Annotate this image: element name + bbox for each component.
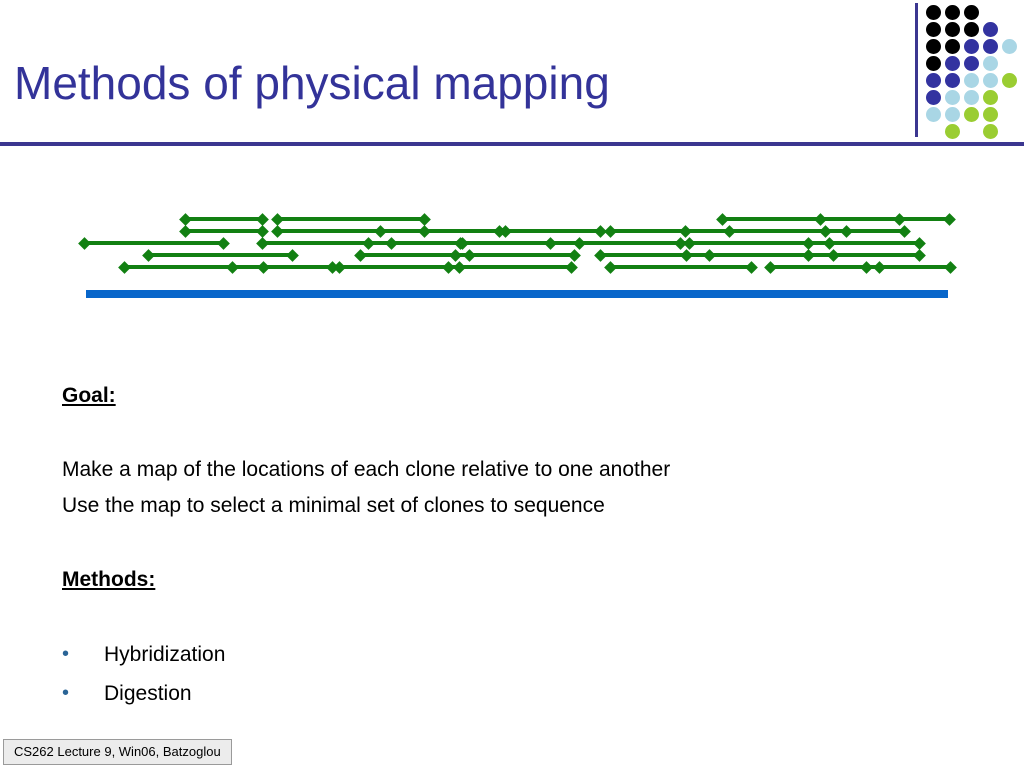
goal-line-2: Use the map to select a minimal set of c… [62,491,605,521]
clone-endpoint-icon [604,225,617,238]
logo-dot [983,124,998,139]
clone-segment [808,241,920,245]
dot-matrix-logo [915,3,1020,143]
logo-vertical-bar [915,3,918,137]
list-item[interactable]: •Hybridization [62,635,562,674]
logo-dot [926,107,941,122]
goal-line-1: Make a map of the locations of each clon… [62,455,670,485]
clone-segment [550,241,690,245]
clone-endpoint-icon [674,237,687,250]
clone-endpoint-icon [680,249,693,262]
clone-segment [610,265,752,269]
logo-dot [1002,73,1017,88]
clone-segment [825,229,905,233]
clone-segment [232,265,340,269]
clone-endpoint-icon [764,261,777,274]
clone-endpoint-icon [913,237,926,250]
logo-dot [945,124,960,139]
bullet-icon: • [62,674,76,713]
clone-endpoint-icon [594,249,607,262]
clone-endpoint-icon [354,249,367,262]
clone-endpoint-icon [226,261,239,274]
clone-endpoint-icon [374,225,387,238]
logo-dot [945,90,960,105]
clone-endpoint-icon [78,237,91,250]
list-item[interactable]: •Digestion [62,674,562,713]
clone-endpoint-icon [142,249,155,262]
clone-segment [808,253,920,257]
title-divider [0,142,1024,146]
logo-dot-grid [926,5,1020,141]
clone-endpoint-icon [544,237,557,250]
logo-dot [926,39,941,54]
clone-endpoint-icon [271,225,284,238]
logo-dot [964,39,979,54]
logo-dot [964,107,979,122]
clone-endpoint-icon [716,213,729,226]
clone-endpoint-icon [802,237,815,250]
clone-endpoint-icon [179,225,192,238]
clone-endpoint-icon [814,213,827,226]
clone-endpoint-icon [943,213,956,226]
clone-endpoint-icon [860,261,873,274]
clone-endpoint-icon [898,225,911,238]
clone-endpoint-icon [819,225,832,238]
clone-endpoint-icon [679,225,692,238]
clone-segment [455,253,575,257]
logo-dot [926,90,941,105]
clone-endpoint-icon [913,249,926,262]
clone-segment [84,241,224,245]
clone-endpoint-icon [604,261,617,274]
list-item-label: Hybridization [104,635,225,674]
logo-dot [964,22,979,37]
logo-dot [926,5,941,20]
clone-endpoint-icon [179,213,192,226]
logo-dot [945,39,960,54]
clone-endpoint-icon [118,261,131,274]
logo-dot [926,56,941,71]
logo-dot [945,73,960,88]
clone-segment [866,265,951,269]
clone-endpoint-icon [256,213,269,226]
clone-segment [820,217,950,221]
logo-dot [945,22,960,37]
list-item-label: Digestion [104,674,192,713]
clone-endpoint-icon [745,261,758,274]
slide-canvas: Methods of physical mapping Goal: Make a… [0,0,1024,768]
clone-segment [448,265,572,269]
clone-endpoint-icon [568,249,581,262]
clone-endpoint-icon [454,237,467,250]
logo-dot [945,107,960,122]
clone-endpoint-icon [802,249,815,262]
logo-dot [964,90,979,105]
logo-dot [983,39,998,54]
logo-dot [983,22,998,37]
methods-heading: Methods: [62,565,155,595]
clone-endpoint-icon [362,237,375,250]
logo-dot [964,5,979,20]
clone-segment [380,229,500,233]
bullet-icon: • [62,635,76,674]
genome-axis-bar [86,290,948,298]
logo-dot [945,5,960,20]
methods-bullet-list: •Hybridization•Digestion [62,635,562,713]
clone-endpoint-icon [944,261,957,274]
clone-endpoint-icon [271,213,284,226]
clone-endpoint-icon [442,261,455,274]
clone-segment [368,241,463,245]
logo-dot [983,90,998,105]
clone-endpoint-icon [217,237,230,250]
clone-endpoint-icon [256,237,269,250]
clone-endpoint-icon [286,249,299,262]
logo-dot [983,56,998,71]
clone-coverage-map [80,210,950,280]
page-title: Methods of physical mapping [14,56,610,110]
footer-label: CS262 Lecture 9, Win06, Batzoglou [3,739,232,765]
clone-endpoint-icon [449,249,462,262]
logo-dot [983,107,998,122]
logo-dot [926,73,941,88]
goal-heading: Goal: [62,381,116,411]
clone-segment [148,253,293,257]
clone-segment [277,217,425,221]
logo-dot [1002,39,1017,54]
clone-endpoint-icon [565,261,578,274]
logo-dot [964,73,979,88]
clone-endpoint-icon [256,225,269,238]
logo-dot [983,73,998,88]
logo-dot [945,56,960,71]
logo-dot [926,22,941,37]
logo-dot [964,56,979,71]
clone-segment [185,229,263,233]
clone-segment [505,229,601,233]
clone-segment [185,217,263,221]
clone-endpoint-icon [418,213,431,226]
